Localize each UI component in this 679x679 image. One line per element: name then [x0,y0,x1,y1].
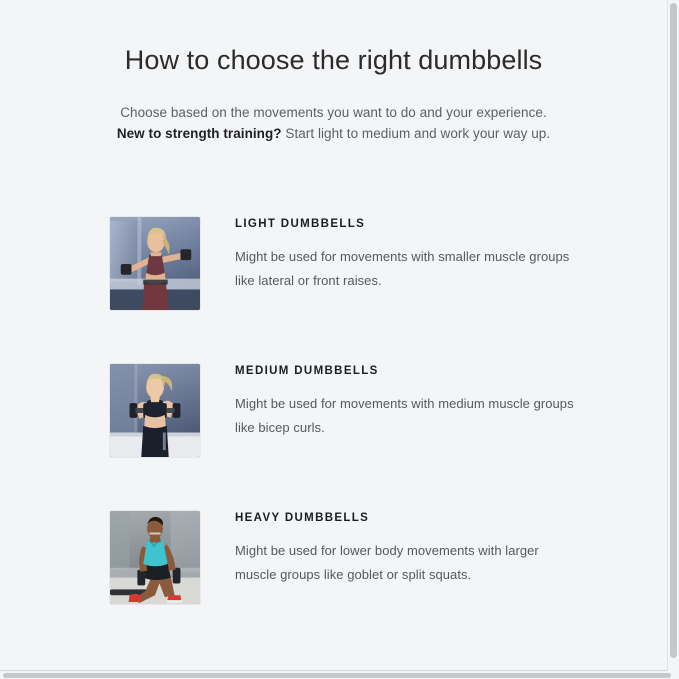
section-text-light: LIGHT DUMBBELLS Might be used for moveme… [235,216,580,293]
subtitle-line-2: New to strength training? Start light to… [0,123,667,144]
browser-viewport: How to choose the right dumbbells Choose… [0,0,679,679]
page-title: How to choose the right dumbbells [0,44,667,76]
section-heading-medium: MEDIUM DUMBBELLS [235,365,580,379]
image-woman-bicep-curls [110,364,200,457]
section-text-heavy: HEAVY DUMBBELLS Might be used for lower … [235,510,580,587]
subtitle-rest-text: Start light to medium and work your way … [285,126,550,141]
page-header: How to choose the right dumbbells Choose… [0,0,667,144]
section-heading-heavy: HEAVY DUMBBELLS [235,512,580,526]
dumbbell-sections: LIGHT DUMBBELLS Might be used for moveme… [0,216,667,605]
horizontal-scrollbar-thumb[interactable] [3,673,671,678]
subtitle-block: Choose based on the movements you want t… [0,102,667,144]
section-body-heavy: Might be used for lower body movements w… [235,539,580,587]
thumbnail-heavy-dumbbells[interactable] [109,510,201,605]
vertical-scrollbar-thumb[interactable] [670,3,677,658]
section-text-medium: MEDIUM DUMBBELLS Might be used for movem… [235,363,580,440]
vertical-scrollbar-track[interactable] [668,0,679,671]
section-body-medium: Might be used for movements with medium … [235,392,580,440]
thumbnail-light-dumbbells[interactable] [109,216,201,311]
thumbnail-medium-dumbbells[interactable] [109,363,201,458]
horizontal-scrollbar-track[interactable] [0,671,679,679]
section-heavy-dumbbells: HEAVY DUMBBELLS Might be used for lower … [109,510,667,605]
page-content: How to choose the right dumbbells Choose… [0,0,668,671]
subtitle-strong-text: New to strength training? [117,126,282,141]
image-woman-lateral-raises [110,217,200,310]
section-body-light: Might be used for movements with smaller… [235,245,580,293]
section-light-dumbbells: LIGHT DUMBBELLS Might be used for moveme… [109,216,667,311]
subtitle-line-1: Choose based on the movements you want t… [0,102,667,123]
section-heading-light: LIGHT DUMBBELLS [235,218,580,232]
section-medium-dumbbells: MEDIUM DUMBBELLS Might be used for movem… [109,363,667,458]
image-man-split-squats [110,511,200,604]
